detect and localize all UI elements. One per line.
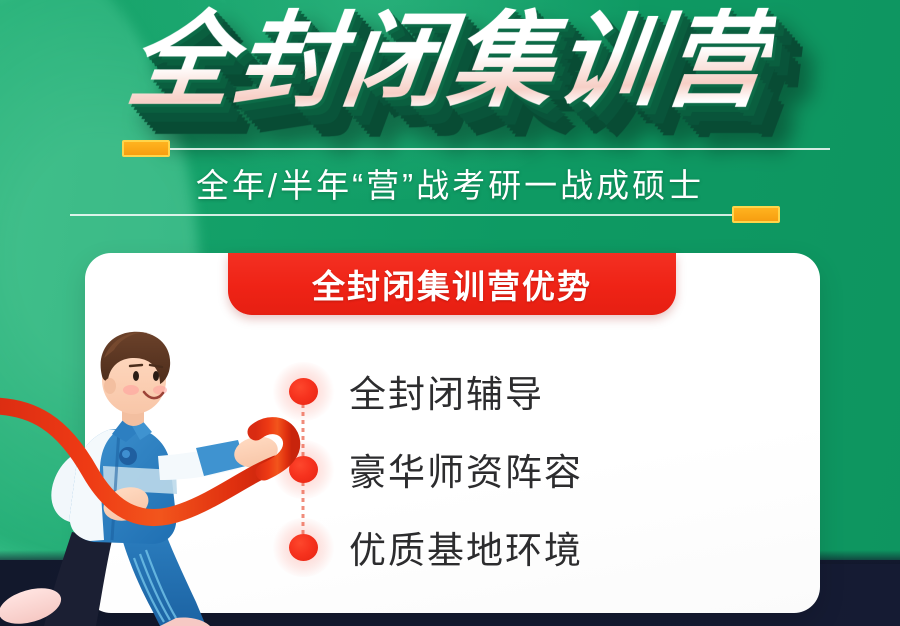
- poster-title-container: 全封闭集训营: [0, 6, 900, 118]
- bullet-dot-wrap: [277, 430, 329, 508]
- list-item: 全封闭辅导: [277, 352, 583, 430]
- advantages-banner-label: 全封闭集训营优势: [312, 260, 592, 308]
- advantages-list: 全封闭辅导 豪华师资阵容 优质基地环境: [277, 352, 583, 586]
- advantage-label-1: 全封闭辅导: [349, 364, 544, 418]
- bullet-dot-wrap: [277, 508, 329, 586]
- red-dot-icon: [289, 378, 318, 405]
- subtitle-rule-bottom: [70, 214, 780, 216]
- advantage-label-2: 豪华师资阵容: [349, 442, 583, 496]
- poster-canvas: 全封闭集训营 全年/半年“营”战考研一战成硕士 全封闭集训营优势 全封闭辅导: [0, 0, 900, 626]
- bullet-dot-wrap: [277, 352, 329, 430]
- poster-subtitle-block: 全年/半年“营”战考研一战成硕士: [70, 148, 830, 216]
- red-dot-icon: [289, 534, 318, 561]
- orange-chip-right-icon: [732, 206, 780, 223]
- orange-chip-left-icon: [122, 140, 170, 157]
- poster-title: 全封闭集训营: [122, 6, 778, 118]
- advantage-label-3: 优质基地环境: [349, 520, 583, 574]
- red-dot-icon: [289, 456, 318, 483]
- list-item: 优质基地环境: [277, 508, 583, 586]
- list-item: 豪华师资阵容: [277, 430, 583, 508]
- advantages-banner: 全封闭集训营优势: [228, 253, 676, 315]
- poster-subtitle: 全年/半年“营”战考研一战成硕士: [70, 150, 830, 214]
- subtitle-rule-top: [122, 148, 830, 150]
